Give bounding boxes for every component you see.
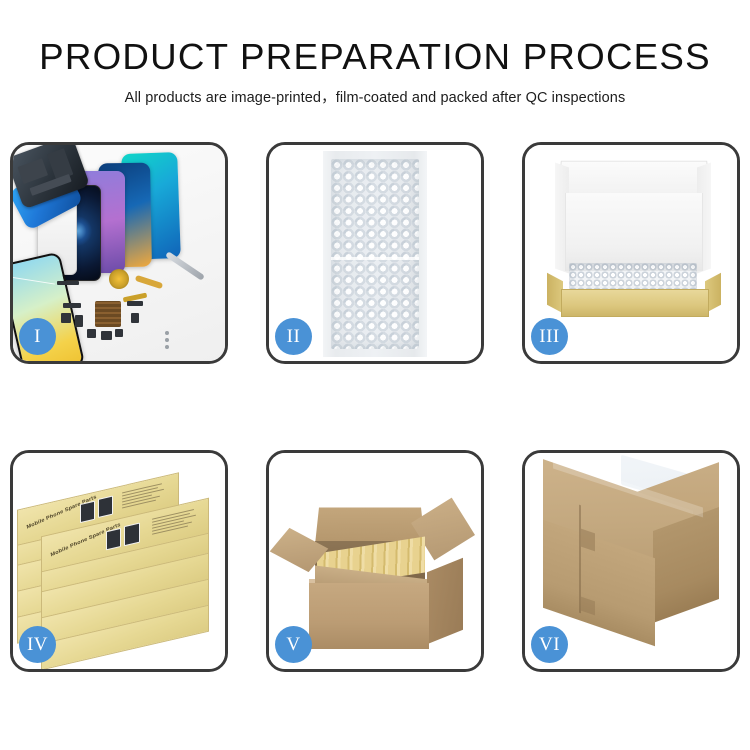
step-panel-2: II [266, 142, 484, 364]
bubble-wrap-icon [331, 159, 419, 349]
step-2-image: II [269, 145, 481, 361]
step-5-image: V [269, 453, 481, 669]
step-panel-6: VI [522, 450, 740, 672]
product-preparation-infographic: PRODUCT PREPARATION PROCESS All products… [0, 0, 750, 750]
step-panel-4: Mobile Phone Spare Parts Mobile Phone Sp… [10, 450, 228, 672]
flex-cable-icon [135, 275, 163, 289]
box-inner-back-wall [565, 193, 703, 271]
box-front-panel [561, 289, 709, 317]
step-badge-4: IV [19, 626, 56, 663]
carton-front-panel [309, 583, 429, 649]
chip-grid-icon [95, 301, 121, 327]
carton-side-panel [427, 558, 463, 645]
step-badge-1: I [19, 318, 56, 355]
steps-grid: I II III [0, 0, 750, 750]
speaker-coil-icon [109, 269, 129, 289]
step-3-image: III [525, 145, 737, 361]
step-panel-1: I [10, 142, 228, 364]
step-badge-6: VI [531, 626, 568, 663]
wrap-seam [331, 257, 419, 260]
step-1-image: I [13, 145, 225, 361]
screws-icon [165, 331, 169, 352]
step-panel-3: III [522, 142, 740, 364]
step-badge-2: II [275, 318, 312, 355]
step-badge-3: III [531, 318, 568, 355]
step-panel-5: V [266, 450, 484, 672]
step-4-image: Mobile Phone Spare Parts Mobile Phone Sp… [13, 453, 225, 669]
step-badge-5: V [275, 626, 312, 663]
step-6-image: VI [525, 453, 737, 669]
spare-parts-group [57, 273, 177, 351]
